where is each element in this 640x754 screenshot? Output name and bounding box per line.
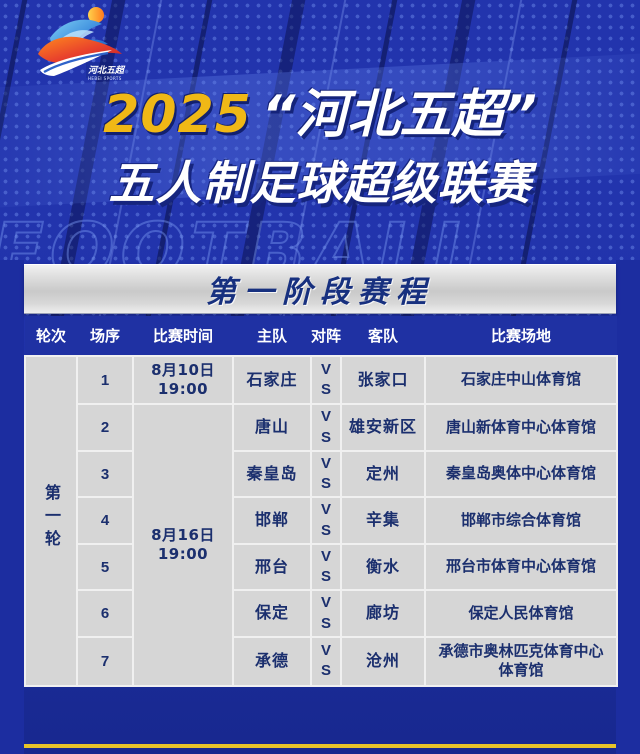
cell-venue: 石家庄中山体育馆 bbox=[425, 356, 617, 404]
vs-v: V bbox=[312, 641, 340, 661]
table-row: 3 秦皇岛 V S 定州 秦皇岛奥体中心体育馆 bbox=[25, 451, 617, 498]
hebei-five-super-league-logo: 河北五超 HEBEI SPORTS bbox=[30, 4, 130, 86]
cell-venue: 邢台市体育中心体育馆 bbox=[425, 544, 617, 591]
table-row: 7 承德 V S 沧州 承德市奥林匹克体育中心体育馆 bbox=[25, 637, 617, 686]
cell-home-team: 保定 bbox=[233, 590, 311, 637]
left-rail bbox=[0, 260, 24, 754]
column-header-venue: 比赛场地 bbox=[425, 316, 617, 356]
cell-vs: V S bbox=[311, 497, 341, 544]
schedule-header-row: 轮次 场序 比赛时间 主队 对阵 客队 比赛场地 bbox=[25, 316, 617, 356]
vs-s: S bbox=[312, 614, 340, 634]
stage-banner: 第一阶段赛程 bbox=[24, 264, 616, 314]
table-row: 2 8月16日 19:00 唐山 V S 雄安新区 唐山新体育中心体育馆 bbox=[25, 404, 617, 451]
cell-away-team: 辛集 bbox=[341, 497, 425, 544]
table-row: 4 邯郸 V S 辛集 邯郸市综合体育馆 bbox=[25, 497, 617, 544]
schedule-table: 轮次 场序 比赛时间 主队 对阵 客队 比赛场地 第一轮 1 8 bbox=[24, 316, 618, 687]
vs-s: S bbox=[312, 567, 340, 587]
column-header-away: 客队 bbox=[341, 316, 425, 356]
vs-v: V bbox=[312, 407, 340, 427]
vs-v: V bbox=[312, 360, 340, 380]
vs-s: S bbox=[312, 661, 340, 681]
vs-v: V bbox=[312, 593, 340, 613]
cell-venue: 秦皇岛奥体中心体育馆 bbox=[425, 451, 617, 498]
schedule-table-area: 轮次 场序 比赛时间 主队 对阵 客队 比赛场地 第一轮 1 8 bbox=[24, 316, 616, 687]
cell-home-team: 承德 bbox=[233, 637, 311, 686]
cell-home-team: 邢台 bbox=[233, 544, 311, 591]
cell-order: 1 bbox=[77, 356, 133, 404]
poster-background: FOOTBALL bbox=[0, 0, 640, 754]
cell-home-team: 石家庄 bbox=[233, 356, 311, 404]
schedule-table-body: 第一轮 1 8月10日 19:00 石家庄 V S 张家口 石家庄中山体育馆 bbox=[25, 356, 617, 686]
svg-text:HEBEI SPORTS: HEBEI SPORTS bbox=[88, 76, 122, 81]
column-header-vs: 对阵 bbox=[311, 316, 341, 356]
cell-away-team: 雄安新区 bbox=[341, 404, 425, 451]
cell-round: 第一轮 bbox=[25, 356, 77, 686]
column-header-home: 主队 bbox=[233, 316, 311, 356]
cell-venue: 承德市奥林匹克体育中心体育馆 bbox=[425, 637, 617, 686]
time-clock: 19:00 bbox=[136, 380, 230, 399]
cell-vs: V S bbox=[311, 637, 341, 686]
cell-vs: V S bbox=[311, 356, 341, 404]
time-date: 8月10日 bbox=[136, 361, 230, 380]
cell-order: 2 bbox=[77, 404, 133, 451]
table-row: 第一轮 1 8月10日 19:00 石家庄 V S 张家口 石家庄中山体育馆 bbox=[25, 356, 617, 404]
svg-text:河北五超: 河北五超 bbox=[88, 65, 126, 76]
cell-home-team: 邯郸 bbox=[233, 497, 311, 544]
title-league-name: “河北五超” bbox=[262, 85, 537, 145]
cell-venue: 邯郸市综合体育馆 bbox=[425, 497, 617, 544]
vs-s: S bbox=[312, 474, 340, 494]
title-subtitle: 五人制足球超级联赛 bbox=[0, 147, 640, 213]
table-row: 6 保定 V S 廊坊 保定人民体育馆 bbox=[25, 590, 617, 637]
cell-time: 8月10日 19:00 bbox=[133, 356, 233, 404]
cell-vs: V S bbox=[311, 590, 341, 637]
poster-title: 2025“河北五超” 五人制足球超级联赛 bbox=[0, 88, 640, 213]
time-clock: 19:00 bbox=[136, 545, 230, 564]
stage-banner-text: 第一阶段赛程 bbox=[206, 267, 434, 311]
column-header-round: 轮次 bbox=[25, 316, 77, 356]
schedule-table-head: 轮次 场序 比赛时间 主队 对阵 客队 比赛场地 bbox=[25, 316, 617, 356]
cell-order: 6 bbox=[77, 590, 133, 637]
cell-away-team: 衡水 bbox=[341, 544, 425, 591]
cell-vs: V S bbox=[311, 544, 341, 591]
table-row: 5 邢台 V S 衡水 邢台市体育中心体育馆 bbox=[25, 544, 617, 591]
cell-away-team: 沧州 bbox=[341, 637, 425, 686]
cell-order: 4 bbox=[77, 497, 133, 544]
vs-v: V bbox=[312, 547, 340, 567]
cell-away-team: 定州 bbox=[341, 451, 425, 498]
cell-vs: V S bbox=[311, 451, 341, 498]
cell-venue: 唐山新体育中心体育馆 bbox=[425, 404, 617, 451]
column-header-time: 比赛时间 bbox=[133, 316, 233, 356]
vs-s: S bbox=[312, 428, 340, 448]
vs-s: S bbox=[312, 521, 340, 541]
vs-v: V bbox=[312, 500, 340, 520]
cell-vs: V S bbox=[311, 404, 341, 451]
cell-order: 5 bbox=[77, 544, 133, 591]
vs-v: V bbox=[312, 454, 340, 474]
cell-time: 8月16日 19:00 bbox=[133, 404, 233, 686]
time-date: 8月16日 bbox=[136, 526, 230, 545]
title-year: 2025 bbox=[103, 85, 252, 145]
bottom-gold-line bbox=[24, 744, 616, 748]
cell-order: 7 bbox=[77, 637, 133, 686]
cell-home-team: 秦皇岛 bbox=[233, 451, 311, 498]
right-rail bbox=[616, 260, 640, 754]
cell-away-team: 张家口 bbox=[341, 356, 425, 404]
cell-venue: 保定人民体育馆 bbox=[425, 590, 617, 637]
cell-home-team: 唐山 bbox=[233, 404, 311, 451]
title-line-1: 2025“河北五超” bbox=[0, 88, 640, 143]
cell-order: 3 bbox=[77, 451, 133, 498]
cell-away-team: 廊坊 bbox=[341, 590, 425, 637]
column-header-order: 场序 bbox=[77, 316, 133, 356]
vs-s: S bbox=[312, 380, 340, 400]
round-label: 第一轮 bbox=[43, 484, 59, 553]
